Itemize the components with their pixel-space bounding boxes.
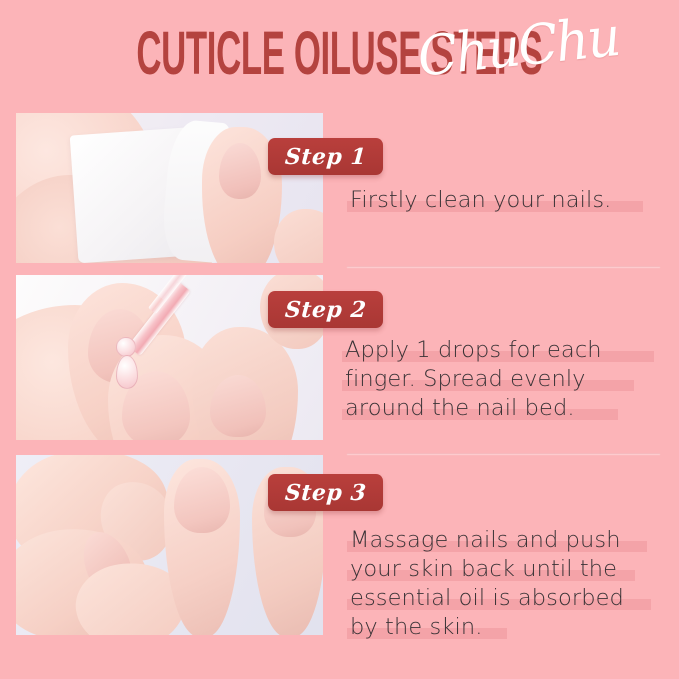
step-2-line-1: Apply 1 drops for each (345, 336, 602, 365)
step-2-badge: Step 2 (268, 291, 383, 328)
step-2-line-2: finger. Spread evenly (345, 365, 602, 394)
step-2-text: Apply 1 drops for each finger. Spread ev… (345, 336, 602, 423)
step-3-line-1: Massage nails and push (350, 526, 624, 555)
step-3-badge-label: Step 3 (284, 480, 367, 506)
step-3-line-4: by the skin. (350, 613, 624, 642)
section-divider-1 (347, 266, 660, 267)
step-3-text: Massage nails and push your skin back un… (350, 526, 624, 642)
step-3-badge: Step 3 (268, 474, 383, 511)
infographic-page: CUTICLE OILUSE STEPS ChuChu (0, 0, 679, 679)
step-1-badge: Step 1 (268, 138, 383, 175)
section-divider-2 (347, 453, 660, 454)
step-2-line-3: around the nail bed. (345, 394, 602, 423)
step-3-line-2: your skin back until the (350, 555, 624, 584)
step-1-badge-label: Step 1 (284, 144, 367, 170)
photo-1-background (16, 113, 323, 263)
step-1-text: Firstly clean your nails. (350, 186, 611, 215)
step-1-photo (16, 113, 323, 263)
header: CUTICLE OILUSE STEPS ChuChu (0, 22, 679, 94)
step-3-line-3: essential oil is absorbed (350, 584, 624, 613)
step-2-badge-label: Step 2 (284, 297, 367, 323)
step-1-line-1: Firstly clean your nails. (350, 186, 611, 215)
